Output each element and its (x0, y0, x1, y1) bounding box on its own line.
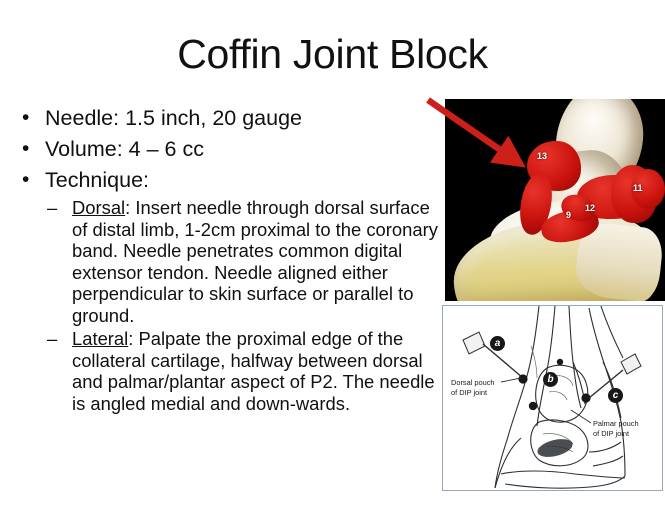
photo-label-9: 9 (566, 211, 571, 220)
diagram-label-palmar-pouch-line1: Palmar pouch (593, 419, 639, 428)
list-item: • Needle: 1.5 inch, 20 gauge (8, 103, 438, 133)
bullet-marker-icon: • (22, 134, 29, 164)
list-item: • Volume: 4 – 6 cc (8, 134, 438, 164)
photo-label-13: 13 (537, 152, 547, 161)
list-item: – Lateral: Palpate the proximal edge of … (45, 328, 438, 414)
diagram-label-dorsal-pouch-line1: Dorsal pouch (451, 378, 495, 387)
dash-marker-icon: – (47, 328, 57, 350)
sub-bullet-lead: Lateral (72, 328, 128, 349)
injection-technique-diagram: a b c Dorsal pouch of DIP joint Palmar p… (442, 305, 663, 491)
slide-canvas: Coffin Joint Block • Needle: 1.5 inch, 2… (0, 0, 665, 507)
bullet-text: Technique: (45, 168, 149, 192)
sub-bullet-lead: Dorsal (72, 197, 125, 218)
list-item: – Dorsal: Insert needle through dorsal s… (45, 197, 438, 326)
diagram-badge-a: a (490, 336, 505, 351)
diagram-badge-c: c (608, 388, 623, 403)
diagram-line-art (443, 306, 663, 491)
body-text-column: • Needle: 1.5 inch, 20 gauge • Volume: 4… (8, 103, 438, 416)
diagram-badge-b: b (543, 372, 558, 387)
sub-bullet-list: – Dorsal: Insert needle through dorsal s… (45, 197, 438, 414)
page-title: Coffin Joint Block (0, 30, 665, 78)
bullet-marker-icon: • (22, 165, 29, 195)
dash-marker-icon: – (47, 197, 57, 219)
diagram-label-dorsal-pouch-line2: of DIP joint (451, 388, 487, 397)
diagram-label-palmar-pouch-line2: of DIP joint (593, 429, 629, 438)
list-item: • Technique: – Dorsal: Insert needle thr… (8, 165, 438, 414)
bullet-text: Needle: 1.5 inch, 20 gauge (45, 106, 302, 130)
bullet-list: • Needle: 1.5 inch, 20 gauge • Volume: 4… (8, 103, 438, 414)
bullet-marker-icon: • (22, 103, 29, 133)
bullet-text: Volume: 4 – 6 cc (45, 137, 204, 161)
anatomical-specimen-photo: 13 11 12 9 (445, 99, 665, 301)
photo-label-11: 11 (633, 184, 643, 193)
photo-label-12: 12 (585, 204, 595, 213)
sub-bullet-text: : Insert needle through dorsal surface o… (72, 197, 438, 326)
